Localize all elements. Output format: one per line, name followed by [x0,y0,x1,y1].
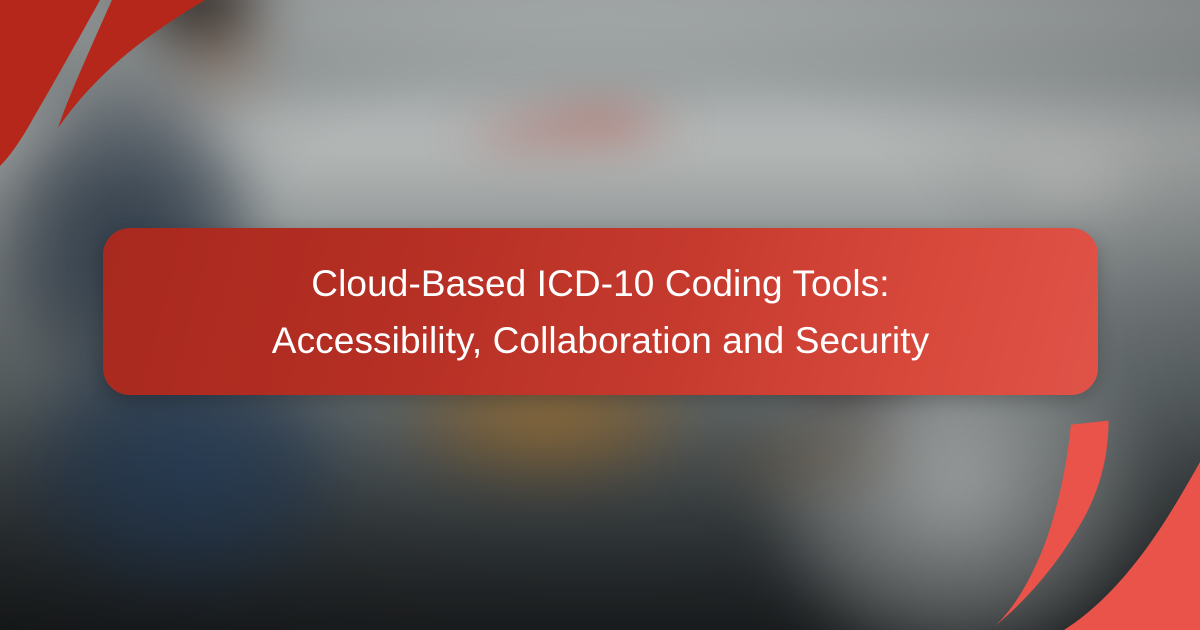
title-line-1: Cloud-Based ICD-10 Coding Tools: [311,255,889,312]
title-card: Cloud-Based ICD-10 Coding Tools: Accessi… [103,228,1098,395]
title-line-2: Accessibility, Collaboration and Securit… [272,312,929,369]
banner: Cloud-Based ICD-10 Coding Tools: Accessi… [0,0,1200,630]
